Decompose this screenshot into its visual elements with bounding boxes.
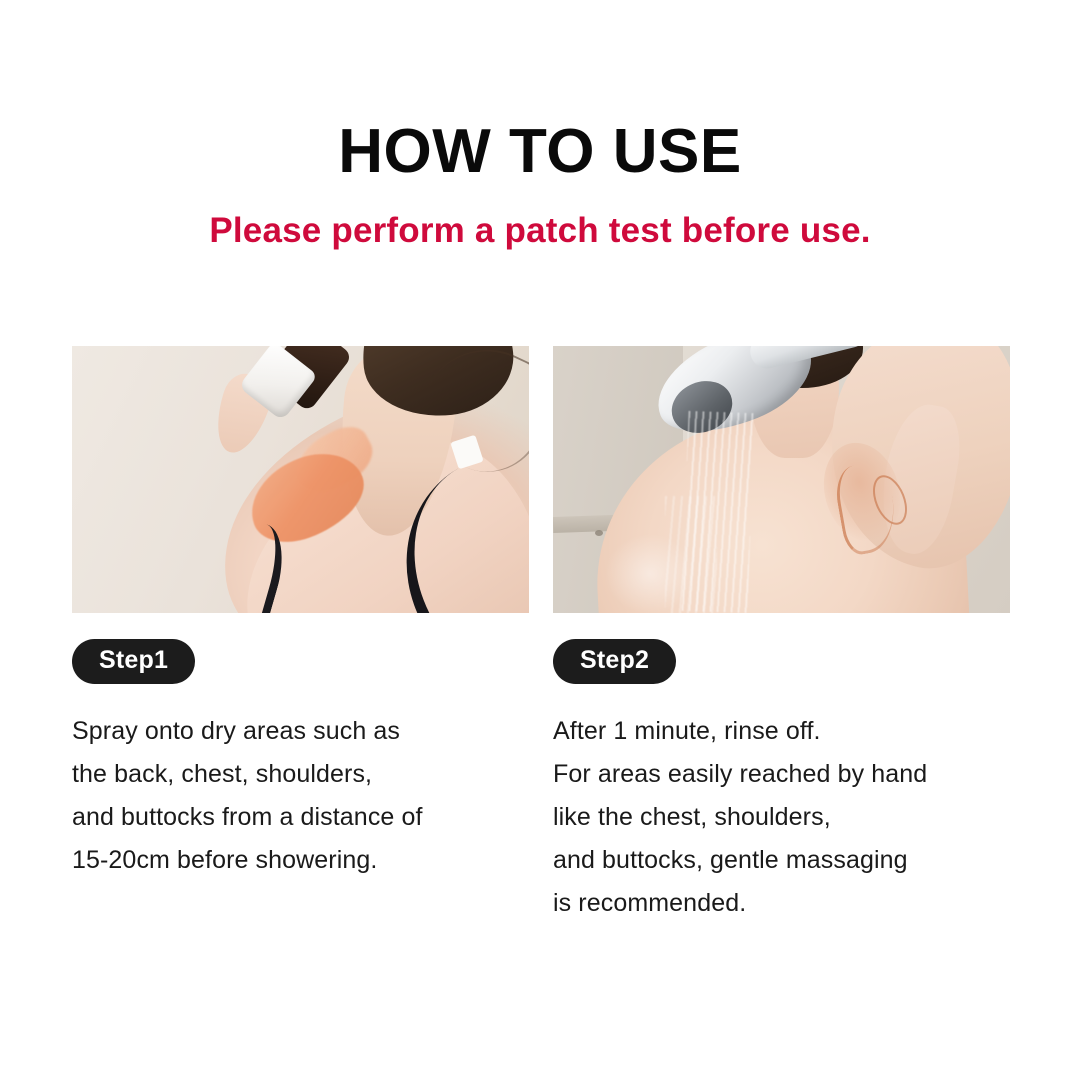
wall-fixture-dot xyxy=(595,530,603,536)
step-1-line-4: 15-20cm before showering. xyxy=(72,839,529,882)
step-2-line-4: and buttocks, gentle massaging xyxy=(553,839,1010,882)
step-2-line-3: like the chest, shoulders, xyxy=(553,796,1010,839)
steps-container: Step1 Spray onto dry areas such as the b… xyxy=(72,346,1009,925)
step-2-photo xyxy=(553,346,1010,613)
patch-test-notice: Please perform a patch test before use. xyxy=(0,213,1080,248)
step-2-line-1: After 1 minute, rinse off. xyxy=(553,710,1010,753)
step-1-line-1: Spray onto dry areas such as xyxy=(72,710,529,753)
wet-skin-sheen xyxy=(605,534,695,613)
step-1-line-3: and buttocks from a distance of xyxy=(72,796,529,839)
step-card-1: Step1 Spray onto dry areas such as the b… xyxy=(72,346,529,925)
step-1-line-2: the back, chest, shoulders, xyxy=(72,753,529,796)
step-2-description: After 1 minute, rinse off. For areas eas… xyxy=(553,710,1010,925)
step-2-badge: Step2 xyxy=(553,639,676,684)
step-2-line-2: For areas easily reached by hand xyxy=(553,753,1010,796)
step-1-photo xyxy=(72,346,529,613)
step-2-line-5: is recommended. xyxy=(553,882,1010,925)
step-card-2: Step2 After 1 minute, rinse off. For are… xyxy=(553,346,1010,925)
step-1-description: Spray onto dry areas such as the back, c… xyxy=(72,710,529,882)
page-title: HOW TO USE xyxy=(0,121,1080,183)
step-1-badge: Step1 xyxy=(72,639,195,684)
